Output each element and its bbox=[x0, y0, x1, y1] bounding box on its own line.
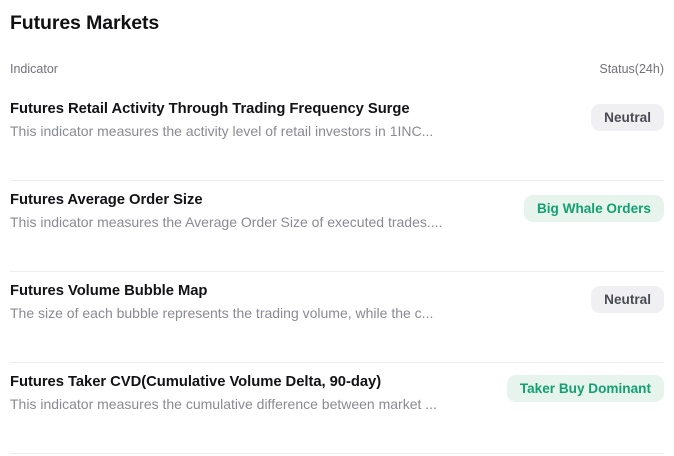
futures-markets-panel: Futures Markets Indicator Status(24h) Fu… bbox=[0, 0, 674, 456]
status-badge: Neutral bbox=[591, 104, 664, 131]
status-badge: Big Whale Orders bbox=[524, 195, 664, 222]
indicator-description: The size of each bubble represents the t… bbox=[10, 303, 433, 324]
table-row[interactable]: Futures Retail Activity Through Trading … bbox=[10, 90, 664, 181]
table-row[interactable]: Futures Taker CVD(Cumulative Volume Delt… bbox=[10, 363, 664, 454]
indicator-title: Futures Retail Activity Through Trading … bbox=[10, 99, 433, 120]
indicator-title: Futures Average Order Size bbox=[10, 190, 442, 211]
status-cell: Taker Buy Dominant bbox=[507, 363, 664, 404]
indicator-info: Futures Retail Activity Through Trading … bbox=[10, 90, 433, 142]
status-badge: Taker Buy Dominant bbox=[507, 375, 664, 402]
column-header-status: Status(24h) bbox=[599, 61, 664, 77]
indicator-info: Futures Taker CVD(Cumulative Volume Delt… bbox=[10, 363, 437, 415]
status-cell: Neutral bbox=[591, 272, 664, 314]
indicator-title: Futures Taker CVD(Cumulative Volume Delt… bbox=[10, 372, 437, 393]
indicator-list: Futures Retail Activity Through Trading … bbox=[10, 90, 664, 454]
table-column-header: Indicator Status(24h) bbox=[10, 49, 664, 89]
status-badge: Neutral bbox=[591, 286, 664, 313]
page-title: Futures Markets bbox=[10, 0, 664, 36]
table-row[interactable]: Futures Average Order Size This indicato… bbox=[10, 181, 664, 272]
table-row[interactable]: Futures Volume Bubble Map The size of ea… bbox=[10, 272, 664, 363]
indicator-description: This indicator measures the Average Orde… bbox=[10, 212, 442, 233]
status-cell: Big Whale Orders bbox=[524, 181, 664, 223]
status-cell: Neutral bbox=[591, 90, 664, 132]
column-header-indicator: Indicator bbox=[10, 61, 58, 77]
indicator-description: This indicator measures the cumulative d… bbox=[10, 394, 437, 415]
indicator-info: Futures Average Order Size This indicato… bbox=[10, 181, 442, 233]
indicator-title: Futures Volume Bubble Map bbox=[10, 281, 433, 302]
indicator-info: Futures Volume Bubble Map The size of ea… bbox=[10, 272, 433, 324]
indicator-description: This indicator measures the activity lev… bbox=[10, 121, 433, 142]
